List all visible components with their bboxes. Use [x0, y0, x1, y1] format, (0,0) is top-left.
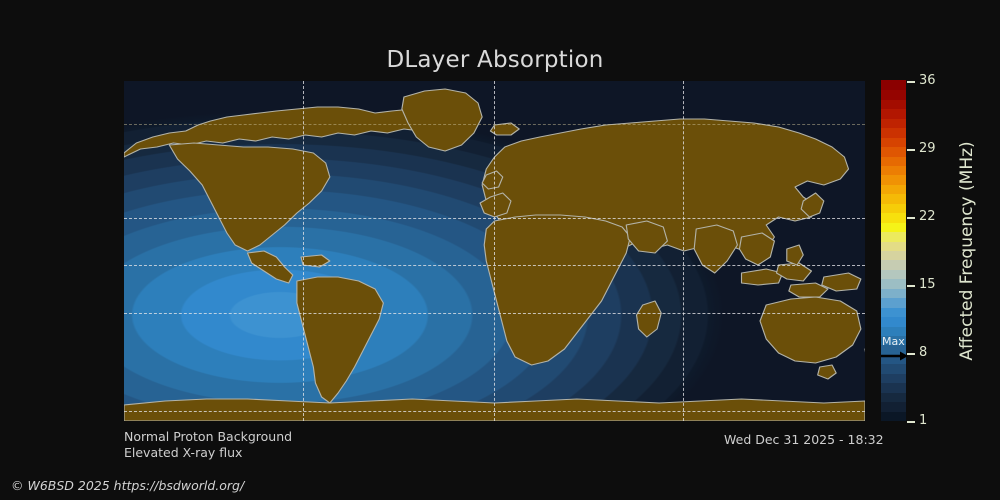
colorbar-band	[881, 118, 906, 128]
colorbar-band	[881, 194, 906, 204]
colorbar-band	[881, 392, 906, 402]
arrow-right-icon	[881, 351, 909, 361]
colorbar-band	[881, 156, 906, 166]
colorbar-band	[881, 90, 906, 100]
colorbar-tick	[907, 81, 915, 83]
colorbar-band	[881, 364, 906, 374]
colorbar-band	[881, 279, 906, 289]
colorbar-band	[881, 241, 906, 251]
colorbar-band	[881, 402, 906, 412]
colorbar-tick	[907, 217, 915, 219]
colorbar-band	[881, 260, 906, 270]
status-annotations: Normal Proton Background Elevated X-ray …	[124, 429, 292, 461]
colorbar-tick	[907, 285, 915, 287]
colorbar-tick	[907, 421, 915, 423]
colorbar-band	[881, 213, 906, 223]
colorbar-band	[881, 147, 906, 157]
colorbar-tick-label: 22	[919, 210, 936, 223]
status-proton: Normal Proton Background	[124, 429, 292, 445]
colorbar-band	[881, 137, 906, 147]
dlayer-absorption-page: DLayer Absorption	[0, 0, 1000, 500]
max-marker-label: Max	[882, 336, 905, 347]
colorbar: 3629221581	[881, 81, 906, 421]
colorbar-tick-label: 36	[919, 74, 936, 87]
colorbar-band	[881, 298, 906, 308]
colorbar-tick-label: 29	[919, 142, 936, 155]
colorbar-band	[881, 175, 906, 185]
max-marker: Max	[881, 336, 911, 362]
colorbar-band	[881, 128, 906, 138]
colorbar-band	[881, 288, 906, 298]
colorbar-band	[881, 250, 906, 260]
colorbar-band	[881, 411, 906, 421]
colorbar-band	[881, 307, 906, 317]
colorbar-gradient	[881, 81, 906, 421]
colorbar-band	[881, 99, 906, 109]
status-xray: Elevated X-ray flux	[124, 445, 292, 461]
colorbar-band	[881, 222, 906, 232]
colorbar-tick-label: 1	[919, 414, 927, 427]
continents-overlay	[124, 81, 865, 421]
world-map-plot	[124, 81, 865, 421]
colorbar-band	[881, 203, 906, 213]
colorbar-tick	[907, 149, 915, 151]
colorbar-band	[881, 317, 906, 327]
copyright-label: © W6BSD 2025 https://bsdworld.org/	[11, 478, 244, 494]
colorbar-band	[881, 109, 906, 119]
colorbar-band	[881, 269, 906, 279]
colorbar-band	[881, 373, 906, 383]
colorbar-band	[881, 383, 906, 393]
colorbar-band	[881, 184, 906, 194]
colorbar-band	[881, 80, 906, 90]
colorbar-tick-label: 15	[919, 278, 936, 291]
timestamp-label: Wed Dec 31 2025 - 18:32	[724, 432, 884, 448]
colorbar-band	[881, 165, 906, 175]
page-title: DLayer Absorption	[0, 46, 990, 74]
colorbar-tick-label: 8	[919, 346, 927, 359]
colorbar-axis-label: Affected Frequency (MHz)	[952, 81, 982, 421]
colorbar-band	[881, 232, 906, 242]
